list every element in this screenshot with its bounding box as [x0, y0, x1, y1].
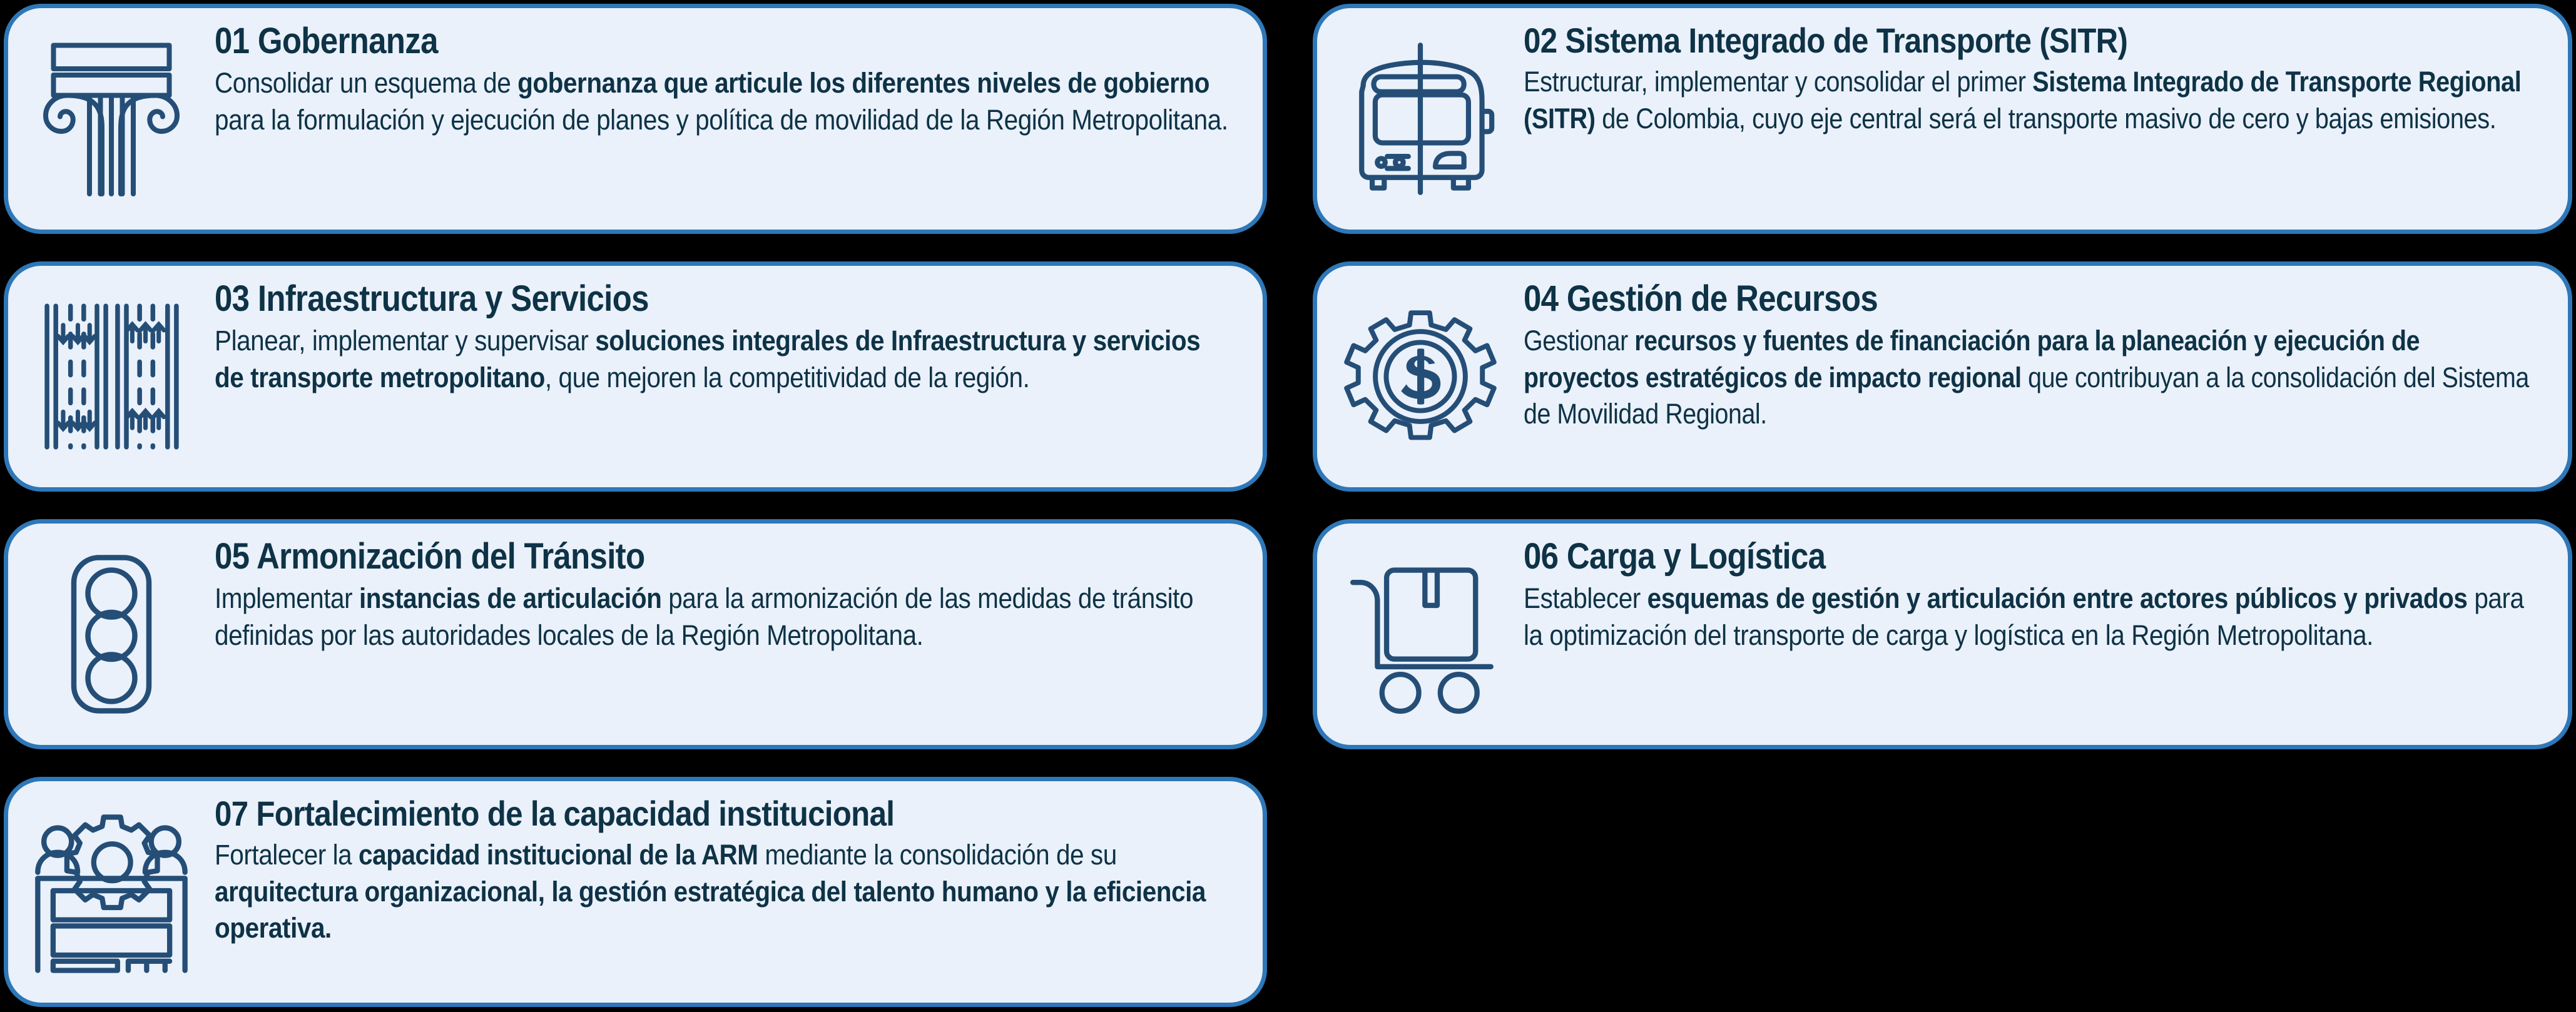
card-title: 01 Gobernanza	[215, 22, 1112, 60]
card-text-block: 04 Gestión de Recursos Gestionar recurso…	[1524, 266, 2568, 433]
card-description: Gestionar recursos y fuentes de financia…	[1524, 323, 2537, 433]
card-description: Consolidar un esquema de gobernanza que …	[215, 65, 1233, 138]
greek-column-icon	[8, 8, 215, 230]
card-title: 02 Sistema Integrado de Transporte (SITR…	[1524, 22, 2417, 59]
card-title: 03 Infraestructura y Servicios	[215, 280, 1112, 318]
card-text-block: 03 Infraestructura y Servicios Planear, …	[215, 266, 1263, 396]
objectives-board: 01 Gobernanza Consolidar un esquema de g…	[0, 0, 2576, 1012]
objective-card-03[interactable]: 03 Infraestructura y Servicios Planear, …	[4, 261, 1267, 492]
objective-card-01[interactable]: 01 Gobernanza Consolidar un esquema de g…	[4, 4, 1267, 234]
card-title: 06 Carga y Logística	[1524, 537, 2417, 575]
card-description: Fortalecer la capacidad institucional de…	[215, 837, 1233, 947]
card-text-block: 05 Armonización del Tránsito Implementar…	[215, 524, 1263, 654]
objective-card-05[interactable]: 05 Armonización del Tránsito Implementar…	[4, 519, 1267, 749]
card-text-block: 06 Carga y Logística Establecer esquemas…	[1524, 524, 2568, 654]
card-text-block: 02 Sistema Integrado de Transporte (SITR…	[1524, 8, 2568, 137]
card-title: 04 Gestión de Recursos	[1524, 280, 2417, 318]
card-description: Estructurar, implementar y consolidar el…	[1524, 64, 2539, 137]
card-title: 05 Armonización del Tránsito	[215, 537, 1112, 575]
card-text-block: 07 Fortalecimiento de la capacidad insti…	[215, 781, 1263, 947]
traffic-light-icon	[8, 524, 215, 745]
card-description: Implementar instancias de articulación p…	[215, 580, 1233, 654]
card-title: 07 Fortalecimiento de la capacidad insti…	[215, 795, 1112, 832]
highway-lanes-icon	[8, 266, 215, 487]
bus-front-icon	[1317, 8, 1524, 230]
objective-card-04[interactable]: 04 Gestión de Recursos Gestionar recurso…	[1313, 261, 2572, 492]
card-text-block: 01 Gobernanza Consolidar un esquema de g…	[215, 8, 1263, 138]
people-gear-building-icon	[8, 781, 215, 1003]
objective-card-02[interactable]: 02 Sistema Integrado de Transporte (SITR…	[1313, 4, 2572, 234]
card-description: Planear, implementar y supervisar soluci…	[215, 323, 1233, 396]
objective-card-07[interactable]: 07 Fortalecimiento de la capacidad insti…	[4, 777, 1267, 1007]
card-description: Establecer esquemas de gestión y articul…	[1524, 580, 2538, 654]
gear-dollar-icon	[1317, 266, 1524, 487]
hand-truck-box-icon	[1317, 524, 1524, 745]
objective-card-06[interactable]: 06 Carga y Logística Establecer esquemas…	[1313, 519, 2572, 749]
